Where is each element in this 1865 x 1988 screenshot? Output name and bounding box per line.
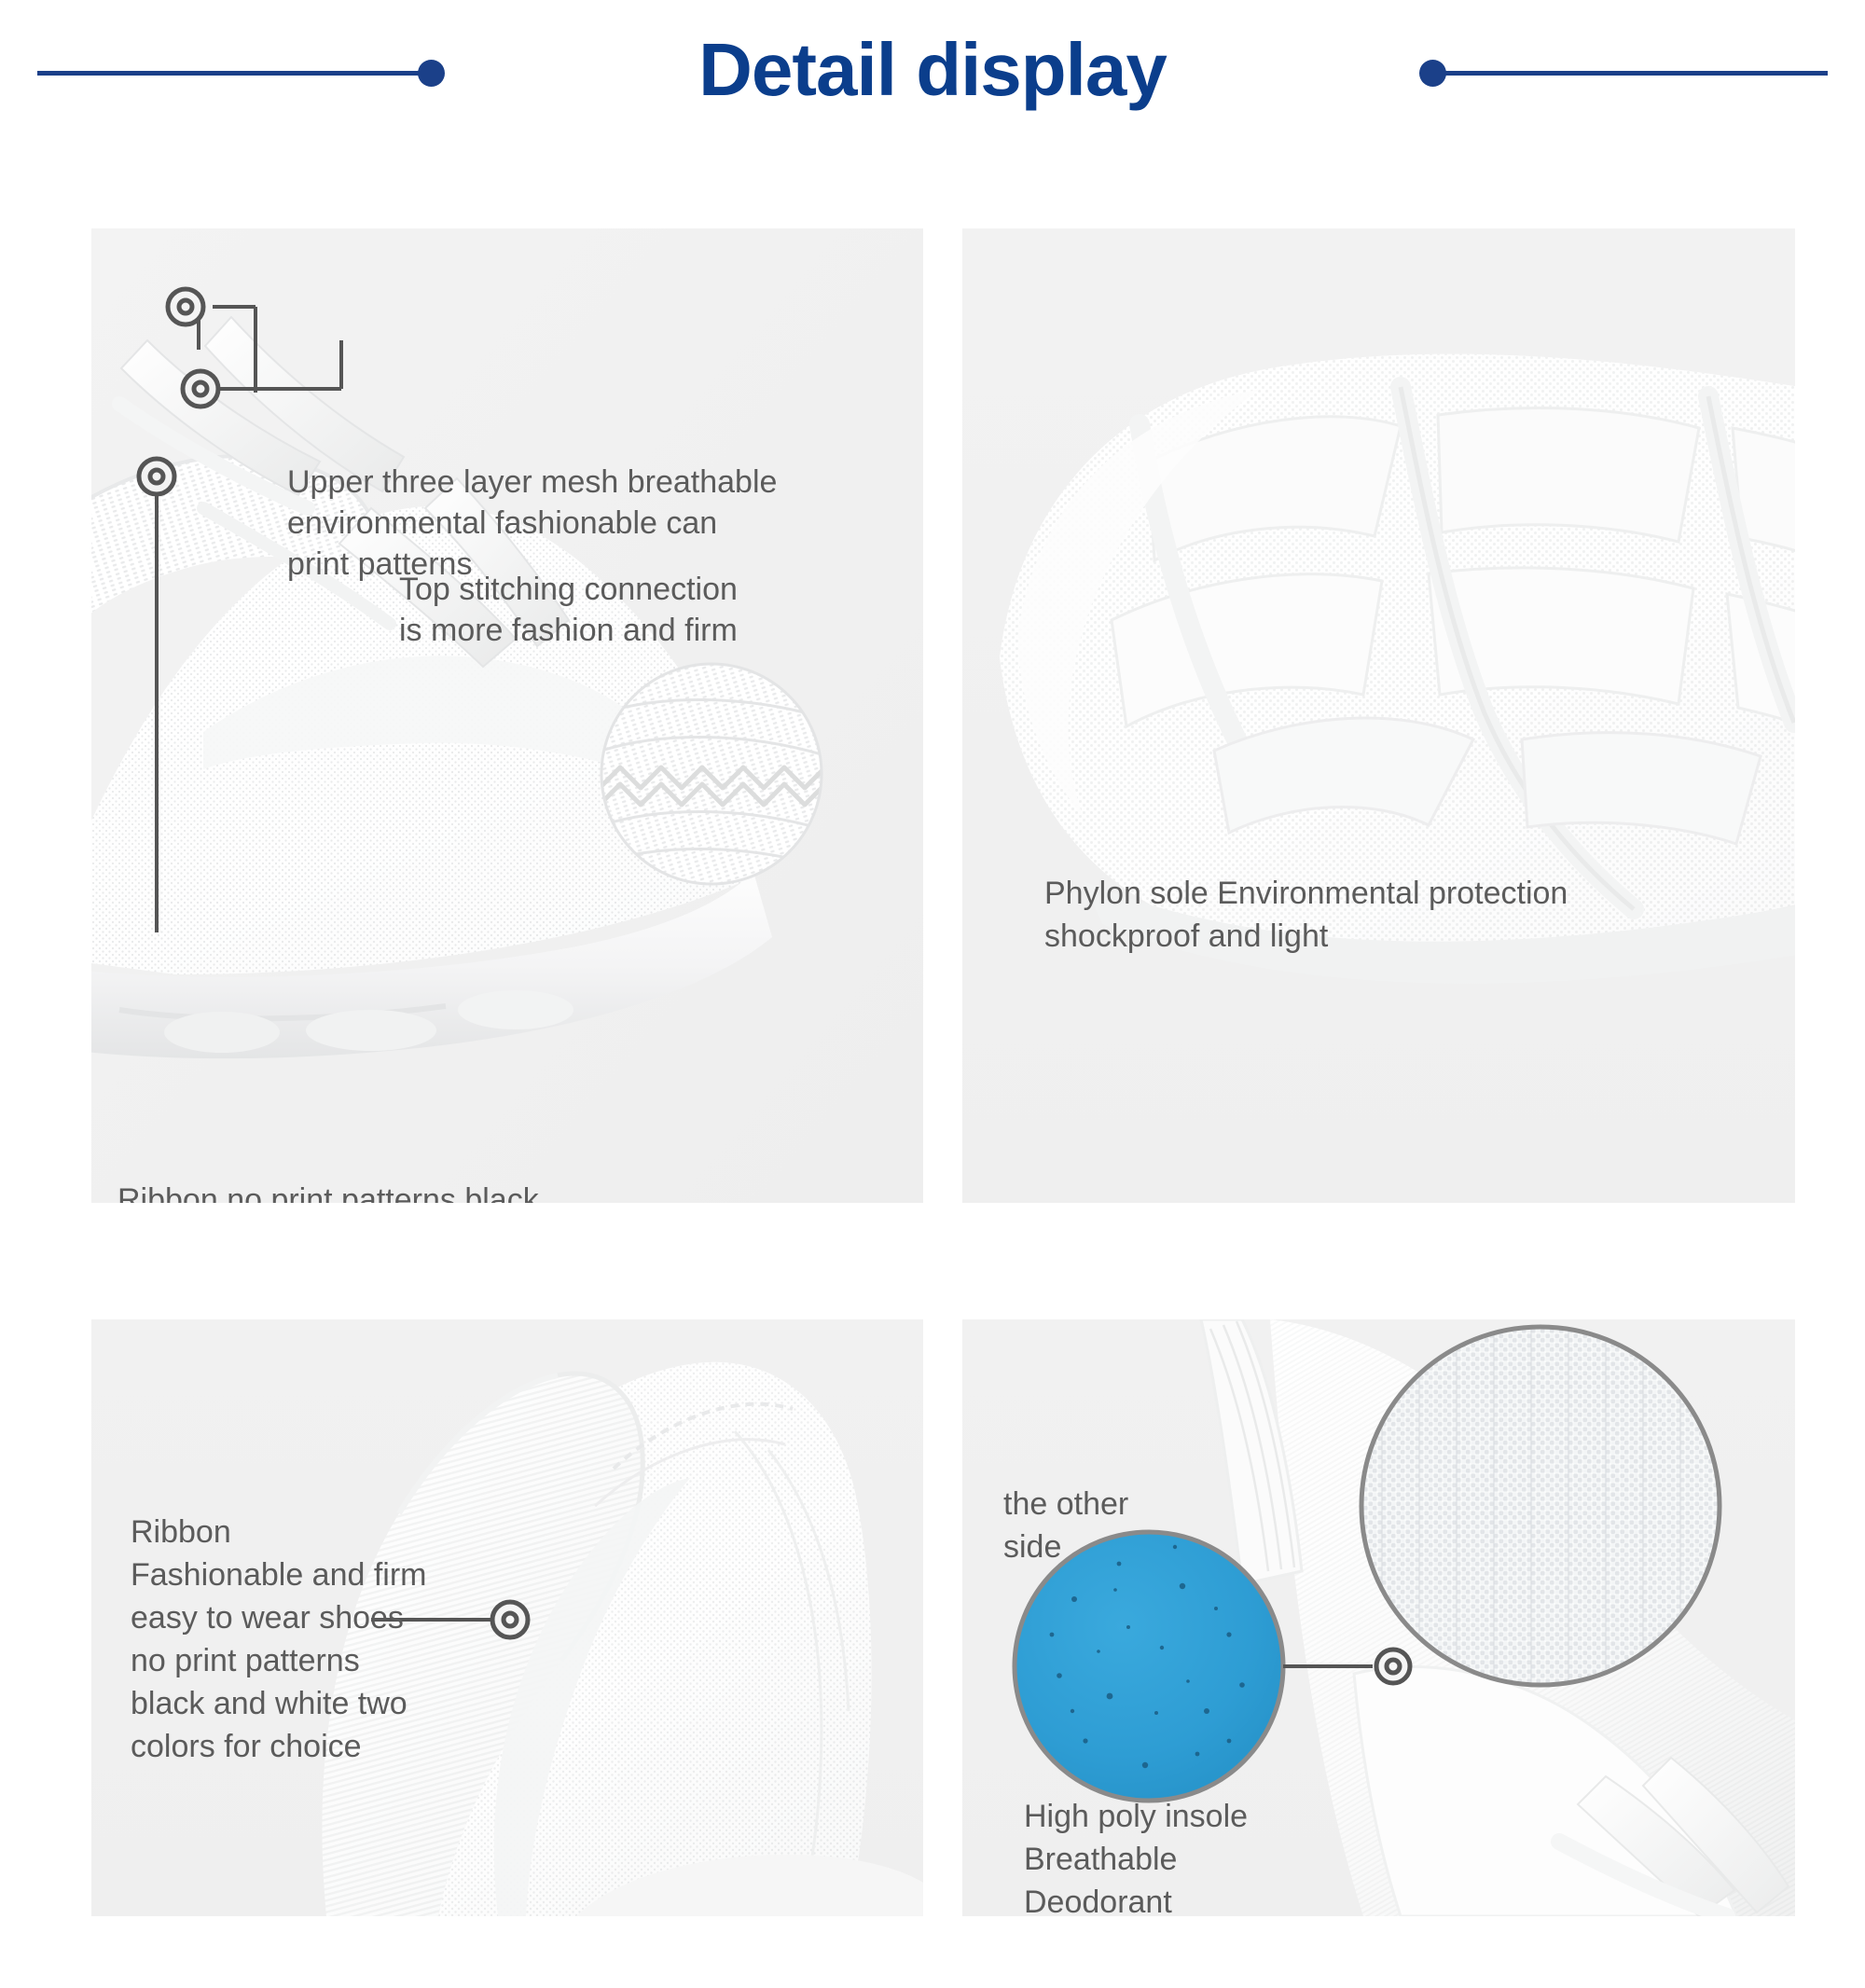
caption-ribbon-heel: Ribbon Fashionable and firm easy to wear… xyxy=(131,1511,559,1768)
panel-phylon-sole: Phylon sole Environmental protection sho… xyxy=(962,228,1795,1203)
panel-ribbon-heel: Ribbon Fashionable and firm easy to wear… xyxy=(91,1319,923,1916)
callout-ribbon-text: Ribbon no print patterns,black and white… xyxy=(117,1180,770,1203)
panel1-callout-overlay xyxy=(91,228,923,1203)
panel-high-poly-insole: the other side High poly insole Breathab… xyxy=(962,1319,1795,1916)
callout-top-stitching-text: Top stitching connection is more fashion… xyxy=(399,569,921,651)
phylon-sole-photo xyxy=(962,228,1795,1203)
callout-marker xyxy=(1376,1650,1410,1683)
label-other-side: the other side xyxy=(1003,1483,1246,1568)
panel-upper-mesh: Upper three layer mesh breathable enviro… xyxy=(91,228,923,1203)
callout-upper-mesh-text: Upper three layer mesh breathable enviro… xyxy=(287,462,921,585)
page-header: Detail display xyxy=(0,0,1865,149)
page-title: Detail display xyxy=(0,0,1865,140)
callout-marker xyxy=(139,289,218,494)
caption-high-poly-insole: High poly insole Breathable Deodorant xyxy=(1024,1795,1453,1916)
caption-phylon-sole: Phylon sole Environmental protection sho… xyxy=(1044,872,1790,958)
